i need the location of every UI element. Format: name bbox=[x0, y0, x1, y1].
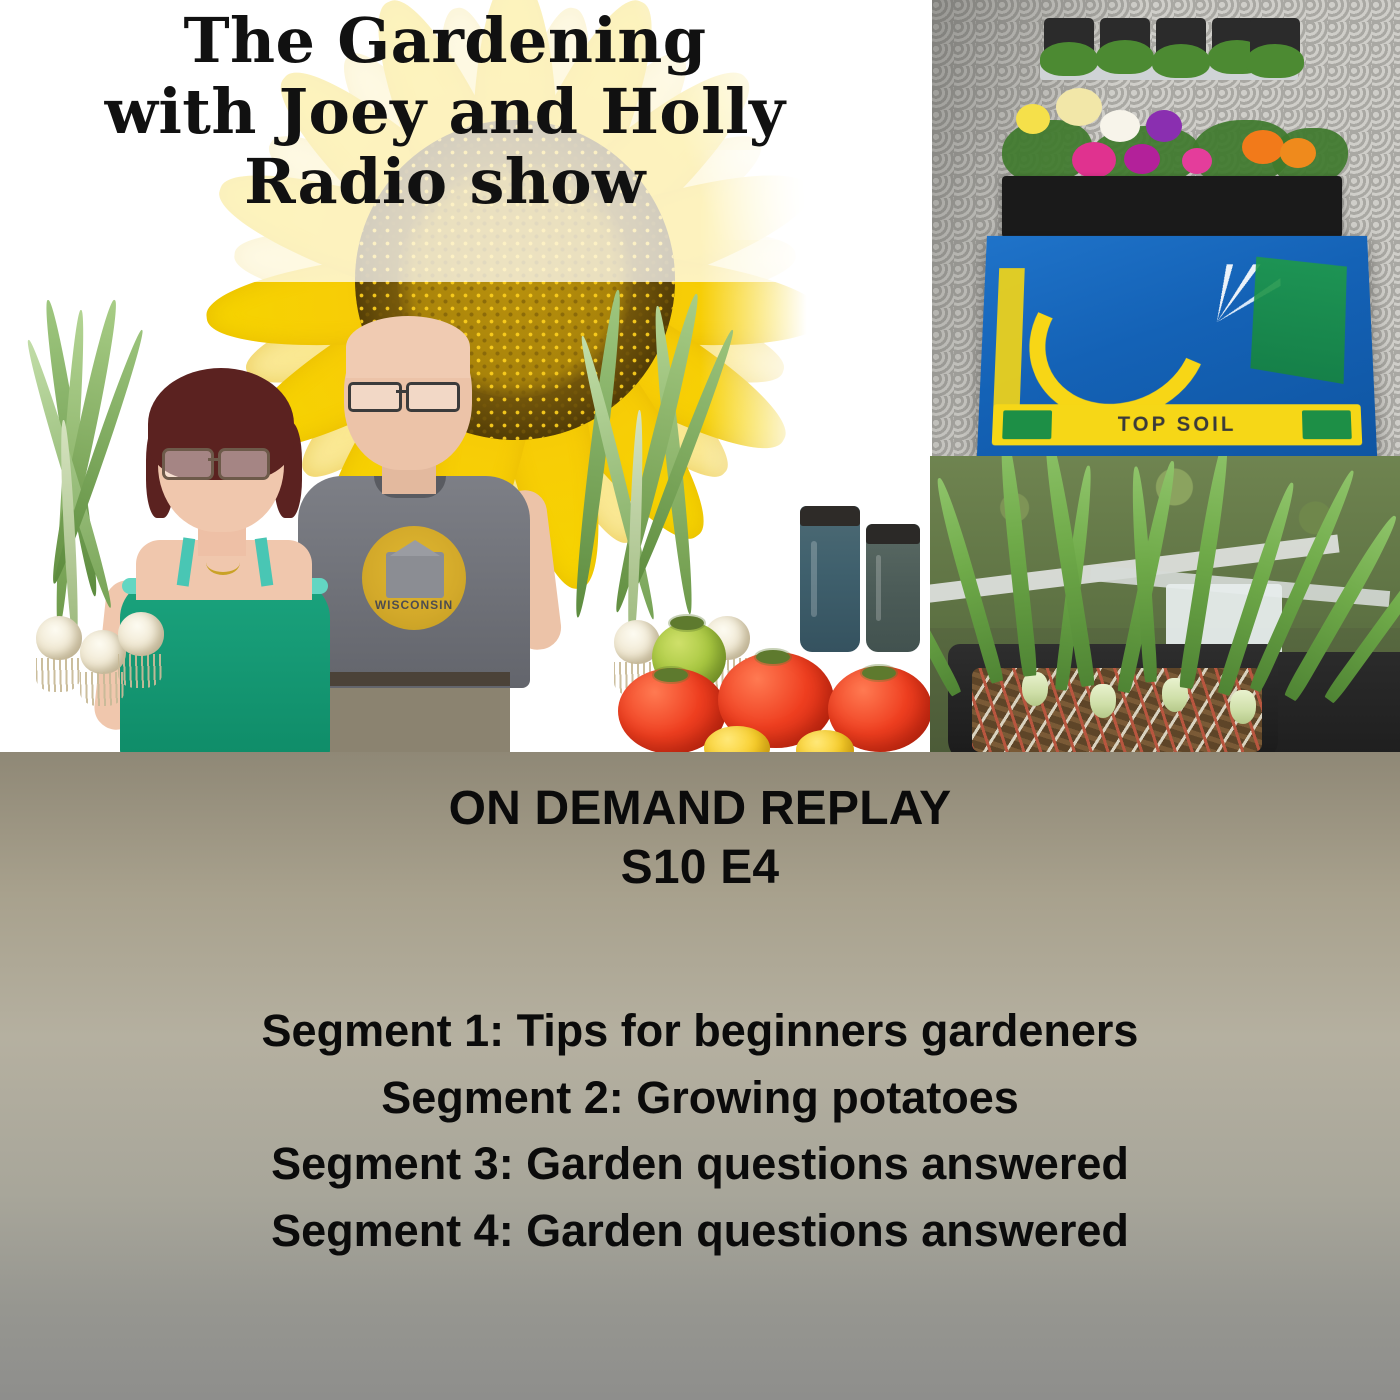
show-title-line-3: Radio show bbox=[0, 147, 890, 218]
tomato-cluster bbox=[618, 612, 932, 752]
episode-info-panel: ON DEMAND REPLAY S10 E4 Segment 1: Tips … bbox=[0, 752, 1400, 1400]
show-title: The Gardening with Joey and Holly Radio … bbox=[0, 6, 890, 218]
photo-wagon-with-plants: TOP SOIL bbox=[932, 0, 1400, 456]
photo-collage: WISCONSIN bbox=[0, 0, 1400, 752]
garlic-bundle-left bbox=[0, 300, 250, 752]
segment-item: Segment 4: Garden questions answered bbox=[0, 1198, 1400, 1265]
show-title-line-1: The Gardening bbox=[0, 6, 890, 77]
segment-item: Segment 1: Tips for beginners gardeners bbox=[0, 998, 1400, 1065]
episode-headline: ON DEMAND REPLAY S10 E4 bbox=[0, 780, 1400, 897]
headline-line-2: S10 E4 bbox=[0, 839, 1400, 898]
segment-item: Segment 3: Garden questions answered bbox=[0, 1131, 1400, 1198]
photo-onions-in-container bbox=[930, 456, 1400, 752]
show-title-line-2: with Joey and Holly bbox=[0, 77, 890, 148]
eyeglasses-left-lens bbox=[348, 382, 402, 412]
plant-flat-tray bbox=[1002, 176, 1342, 238]
flower-flat-blooms bbox=[996, 86, 1348, 190]
segment-item: Segment 2: Growing potatoes bbox=[0, 1065, 1400, 1132]
wood-chip-mulch bbox=[972, 668, 1262, 752]
eyeglasses-right-lens bbox=[406, 382, 460, 412]
top-soil-bag: TOP SOIL bbox=[977, 236, 1377, 456]
shirt-logo-text: WISCONSIN bbox=[362, 598, 466, 612]
segment-list: Segment 1: Tips for beginners gardeners … bbox=[0, 998, 1400, 1264]
show-title-plate: The Gardening with Joey and Holly Radio … bbox=[0, 0, 890, 282]
headline-line-1: ON DEMAND REPLAY bbox=[0, 780, 1400, 839]
podcast-episode-poster: WISCONSIN bbox=[0, 0, 1400, 1400]
